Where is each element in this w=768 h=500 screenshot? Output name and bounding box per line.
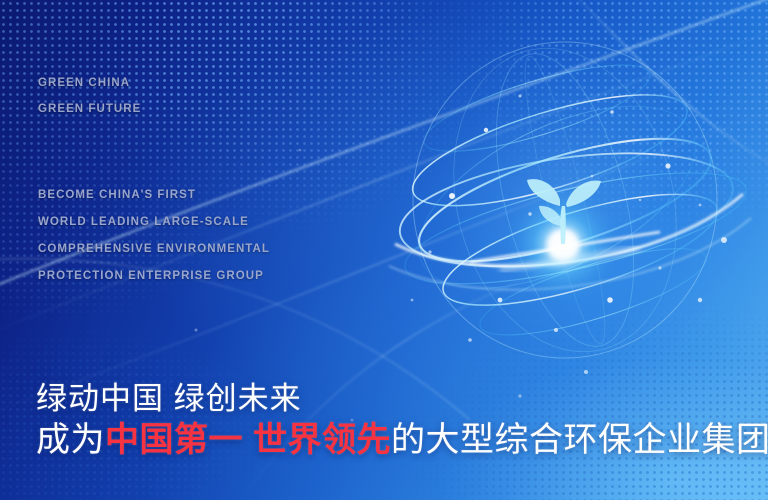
headline-accent-china-first: 中国第一 <box>105 421 243 459</box>
headline-suffix: 的大型综合环保企业集团 <box>391 421 768 459</box>
hero-banner: GREEN CHINA GREEN FUTURE BECOME CHINA'S … <box>0 0 768 500</box>
headline-line-1: 绿动中国 绿创未来 <box>36 380 768 418</box>
headline-accent-world-leading: 世界领先 <box>253 421 391 459</box>
sprout-icon <box>527 179 601 244</box>
headline-line-2: 成为中国第一 世界领先的大型综合环保企业集团 <box>36 418 768 462</box>
headline-prefix: 成为 <box>36 421 105 459</box>
tagline-line-2: GREEN FUTURE <box>38 96 141 122</box>
tagline-english: GREEN CHINA GREEN FUTURE <box>38 70 141 122</box>
headline-accent-gap <box>243 421 253 459</box>
mission-statement-english: BECOME CHINA'S FIRST WORLD LEADING LARGE… <box>38 182 270 290</box>
mission-line-4: PROTECTION ENTERPRISE GROUP <box>38 263 270 290</box>
tagline-line-1: GREEN CHINA <box>38 70 141 96</box>
core-light-burst <box>470 183 660 307</box>
mission-line-2: WORLD LEADING LARGE-SCALE <box>38 209 270 236</box>
headline-chinese: 绿动中国 绿创未来 成为中国第一 世界领先的大型综合环保企业集团 <box>36 380 768 462</box>
mission-line-1: BECOME CHINA'S FIRST <box>38 182 270 209</box>
mission-line-3: COMPREHENSIVE ENVIRONMENTAL <box>38 236 270 263</box>
